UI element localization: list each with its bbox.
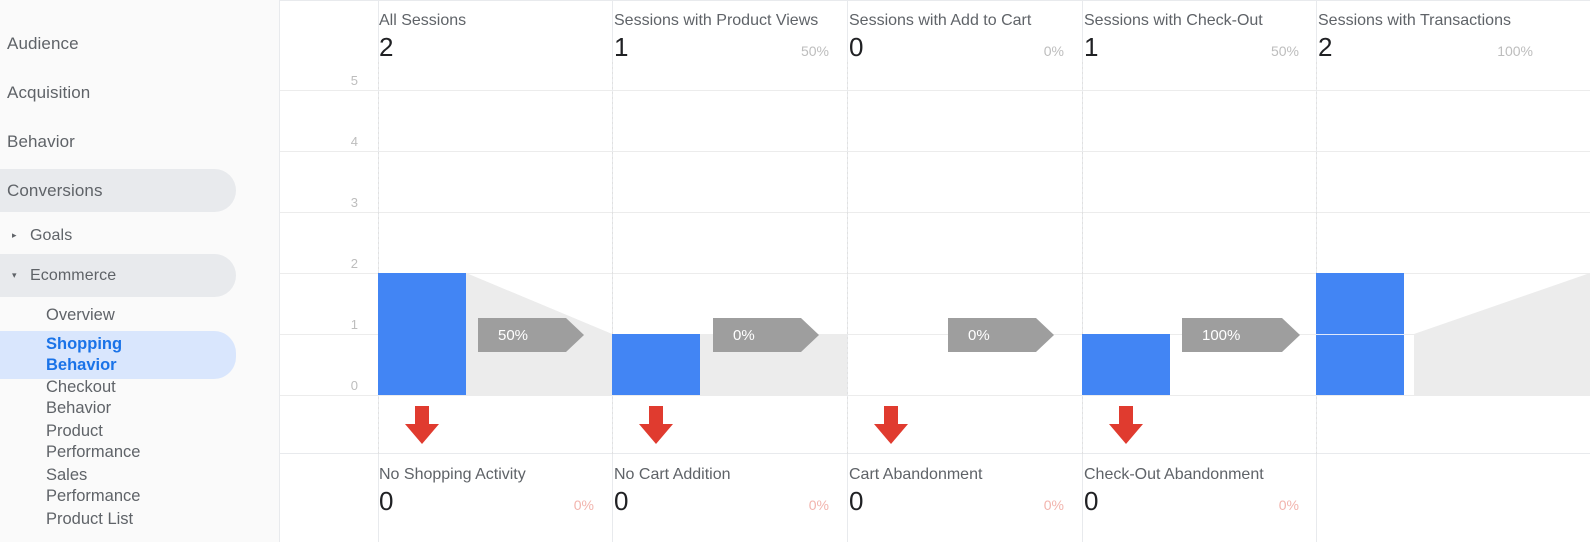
transition-percent-label: 50% bbox=[478, 328, 528, 343]
bar-all-sessions[interactable] bbox=[378, 273, 466, 395]
dropoff-value: 0 bbox=[614, 486, 829, 516]
header-top-rule bbox=[280, 0, 1590, 1]
gridline-0 bbox=[280, 395, 1590, 396]
plot-guide-0 bbox=[378, 62, 379, 457]
transition-arrow-4: 100% bbox=[1182, 318, 1300, 352]
column-title: Sessions with Add to Cart bbox=[849, 12, 1064, 30]
column-header-sessions-with-check-out: Sessions with Check-Out 1 50% bbox=[1084, 12, 1299, 62]
plot-guide-3 bbox=[1082, 62, 1083, 457]
shopping-behavior-page: Realtime Audience Acquisition Behavior C… bbox=[0, 0, 1590, 542]
bar-sessions-with-check-out[interactable] bbox=[1082, 334, 1170, 395]
bar-gridline-overlay bbox=[1316, 334, 1404, 335]
dropoff-percent: 0% bbox=[1044, 497, 1064, 513]
column-value: 2 bbox=[379, 32, 594, 62]
sidebar-item-label: Realtime bbox=[0, 0, 75, 1]
transition-percent-label: 0% bbox=[713, 328, 755, 343]
sidebar-subitem-label: Shopping Behavior bbox=[0, 334, 122, 377]
y-tick-label: 0 bbox=[316, 378, 358, 393]
column-percent: 50% bbox=[1271, 43, 1299, 59]
dropoff-title: Check-Out Abandonment bbox=[1084, 466, 1299, 484]
dropoff-value: 0 bbox=[849, 486, 1064, 516]
sidebar-subitem-label: Overview bbox=[0, 305, 115, 327]
column-value: 0 bbox=[849, 32, 1064, 62]
dropoff-arrow-icon-2 bbox=[639, 406, 673, 444]
y-tick-label: 2 bbox=[316, 256, 358, 271]
sidebar-subitem-label: Product Performance bbox=[0, 421, 140, 464]
shopping-behavior-funnel-chart: 5 4 3 2 1 0 bbox=[280, 0, 1590, 542]
dropoff-cell-check-out-abandonment: Check-Out Abandonment 0 0% bbox=[1084, 466, 1299, 516]
sidebar-item-label: Ecommerce bbox=[30, 267, 116, 285]
sidebar-item-label: Conversions bbox=[0, 181, 103, 201]
bar-sessions-with-product-views[interactable] bbox=[612, 334, 700, 395]
column-header-sessions-with-add-to-cart: Sessions with Add to Cart 0 0% bbox=[849, 12, 1064, 62]
sidebar-subitem-sales-performance[interactable]: Sales Performance bbox=[0, 464, 236, 508]
transition-arrow-1: 50% bbox=[478, 318, 584, 352]
sidebar-item-label: Audience bbox=[0, 34, 79, 54]
dropoff-value: 0 bbox=[379, 486, 594, 516]
sidebar-item-realtime[interactable]: Realtime bbox=[0, 0, 236, 12]
dropoff-percent: 0% bbox=[809, 497, 829, 513]
column-title: Sessions with Transactions bbox=[1318, 12, 1533, 30]
column-percent: 50% bbox=[801, 43, 829, 59]
sidebar-subitem-product-list[interactable]: Product List bbox=[0, 508, 236, 532]
transition-arrow-2: 0% bbox=[713, 318, 819, 352]
dropoff-title: Cart Abandonment bbox=[849, 466, 1064, 484]
sidebar-item-label: Acquisition bbox=[0, 83, 90, 103]
sidebar-item-goals[interactable]: ▸ Goals bbox=[0, 214, 236, 257]
dropoff-value: 0 bbox=[1084, 486, 1299, 516]
sidebar-item-ecommerce[interactable]: ▾ Ecommerce bbox=[0, 254, 236, 297]
column-title: Sessions with Check-Out bbox=[1084, 12, 1299, 30]
footer-top-rule bbox=[280, 453, 1590, 454]
dropoff-arrow-icon-1 bbox=[405, 406, 439, 444]
column-header-all-sessions: All Sessions 2 bbox=[379, 12, 594, 62]
dropoff-title: No Cart Addition bbox=[614, 466, 829, 484]
column-title: Sessions with Product Views bbox=[614, 12, 829, 30]
column-value: 1 bbox=[1084, 32, 1299, 62]
y-tick-label: 1 bbox=[316, 317, 358, 332]
column-header-sessions-with-transactions: Sessions with Transactions 2 100% bbox=[1318, 12, 1533, 62]
column-header-sessions-with-product-views: Sessions with Product Views 1 50% bbox=[614, 12, 829, 62]
gridline-3 bbox=[280, 212, 1590, 213]
transition-percent-label: 0% bbox=[948, 328, 990, 343]
chevron-right-icon: ▸ bbox=[12, 231, 30, 240]
dropoff-cell-no-cart-addition: No Cart Addition 0 0% bbox=[614, 466, 829, 516]
sidebar-subitem-label: Sales Performance bbox=[0, 465, 140, 508]
dropoff-percent: 0% bbox=[1279, 497, 1299, 513]
sidebar-subitem-overview[interactable]: Overview bbox=[0, 303, 236, 329]
sidebar-subitem-product-performance[interactable]: Product Performance bbox=[0, 420, 236, 464]
dropoff-cell-cart-abandonment: Cart Abandonment 0 0% bbox=[849, 466, 1064, 516]
gridline-5 bbox=[280, 90, 1590, 91]
plot-guide-4 bbox=[1316, 62, 1317, 457]
plot-guide-1 bbox=[612, 62, 613, 457]
dropoff-cell-no-shopping-activity: No Shopping Activity 0 0% bbox=[379, 466, 594, 516]
transition-percent-label: 100% bbox=[1182, 328, 1240, 343]
sidebar-item-label: Goals bbox=[30, 227, 72, 245]
dropoff-arrow-icon-4 bbox=[1109, 406, 1143, 444]
sidebar-subitem-checkout-behavior[interactable]: Checkout Behavior bbox=[0, 376, 236, 420]
column-percent: 0% bbox=[1044, 43, 1064, 59]
dropoff-title: No Shopping Activity bbox=[379, 466, 594, 484]
y-tick-label: 4 bbox=[316, 134, 358, 149]
sidebar-item-label: Behavior bbox=[0, 132, 75, 152]
plot-guide-2 bbox=[847, 62, 848, 457]
column-percent: 100% bbox=[1497, 43, 1533, 59]
sidebar-subitem-label: Checkout Behavior bbox=[0, 377, 116, 420]
column-value: 1 bbox=[614, 32, 829, 62]
gridline-4 bbox=[280, 151, 1590, 152]
left-sidebar: Realtime Audience Acquisition Behavior C… bbox=[0, 0, 280, 542]
sidebar-item-acquisition[interactable]: Acquisition bbox=[0, 71, 236, 114]
y-tick-label: 3 bbox=[316, 195, 358, 210]
column-title: All Sessions bbox=[379, 12, 594, 30]
sidebar-subitem-shopping-behavior[interactable]: Shopping Behavior bbox=[0, 331, 236, 379]
dropoff-percent: 0% bbox=[574, 497, 594, 513]
sidebar-item-conversions[interactable]: Conversions bbox=[0, 169, 236, 212]
chevron-down-icon: ▾ bbox=[12, 271, 30, 280]
sidebar-item-behavior[interactable]: Behavior bbox=[0, 120, 236, 163]
sidebar-item-audience[interactable]: Audience bbox=[0, 22, 236, 65]
sidebar-subitem-label: Product List bbox=[0, 509, 133, 531]
y-tick-label: 5 bbox=[316, 73, 358, 88]
dropoff-arrow-icon-3 bbox=[874, 406, 908, 444]
transition-arrow-3: 0% bbox=[948, 318, 1054, 352]
